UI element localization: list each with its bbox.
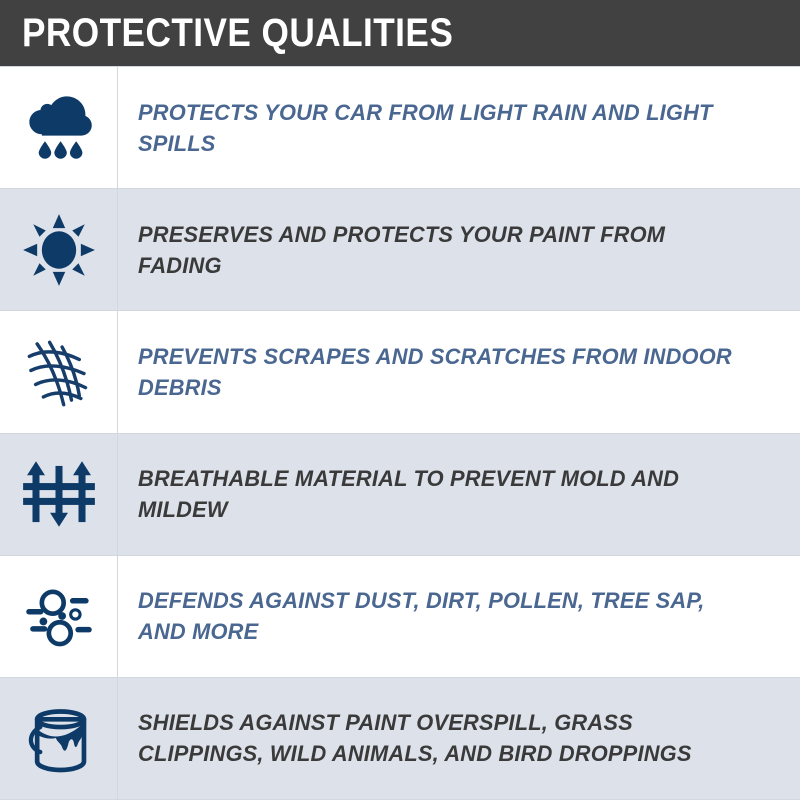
feature-text: PROTECTS YOUR CAR FROM LIGHT RAIN AND LI…	[138, 97, 755, 159]
breathable-airflow-icon	[20, 455, 98, 533]
feature-text: PRESERVES AND PROTECTS YOUR PAINT FROM F…	[138, 219, 755, 281]
text-cell: PRESERVES AND PROTECTS YOUR PAINT FROM F…	[118, 189, 800, 310]
feature-row: PRESERVES AND PROTECTS YOUR PAINT FROM F…	[0, 189, 800, 311]
feature-row: PROTECTS YOUR CAR FROM LIGHT RAIN AND LI…	[0, 67, 800, 189]
text-cell: BREATHABLE MATERIAL TO PREVENT MOLD AND …	[118, 434, 800, 555]
protective-qualities-infographic: PROTECTIVE QUALITIES PROTECTS YOUR CAR F…	[0, 0, 800, 800]
page-title: PROTECTIVE QUALITIES	[22, 13, 453, 53]
text-cell: PREVENTS SCRAPES AND SCRATCHES FROM INDO…	[118, 311, 800, 432]
text-cell: SHIELDS AGAINST PAINT OVERSPILL, GRASS C…	[118, 678, 800, 799]
icon-cell	[0, 67, 118, 188]
dust-particles-icon	[20, 577, 98, 655]
feature-text: DEFENDS AGAINST DUST, DIRT, POLLEN, TREE…	[138, 585, 755, 647]
feature-text: BREATHABLE MATERIAL TO PREVENT MOLD AND …	[138, 463, 755, 525]
header-bar: PROTECTIVE QUALITIES	[0, 0, 800, 66]
icon-cell	[0, 434, 118, 555]
sun-icon	[20, 211, 98, 289]
icon-cell	[0, 678, 118, 799]
text-cell: PROTECTS YOUR CAR FROM LIGHT RAIN AND LI…	[118, 67, 800, 188]
feature-text: PREVENTS SCRAPES AND SCRATCHES FROM INDO…	[138, 341, 755, 403]
icon-cell	[0, 556, 118, 677]
feature-text: SHIELDS AGAINST PAINT OVERSPILL, GRASS C…	[138, 707, 755, 769]
feature-row: PREVENTS SCRAPES AND SCRATCHES FROM INDO…	[0, 311, 800, 433]
feature-row: DEFENDS AGAINST DUST, DIRT, POLLEN, TREE…	[0, 556, 800, 678]
feature-row: SHIELDS AGAINST PAINT OVERSPILL, GRASS C…	[0, 678, 800, 800]
scratch-mesh-icon	[20, 333, 98, 411]
text-cell: DEFENDS AGAINST DUST, DIRT, POLLEN, TREE…	[118, 556, 800, 677]
rain-cloud-icon	[20, 89, 98, 167]
feature-row: BREATHABLE MATERIAL TO PREVENT MOLD AND …	[0, 434, 800, 556]
icon-cell	[0, 189, 118, 310]
icon-cell	[0, 311, 118, 432]
feature-list: PROTECTS YOUR CAR FROM LIGHT RAIN AND LI…	[0, 66, 800, 800]
paint-can-icon	[20, 699, 98, 777]
